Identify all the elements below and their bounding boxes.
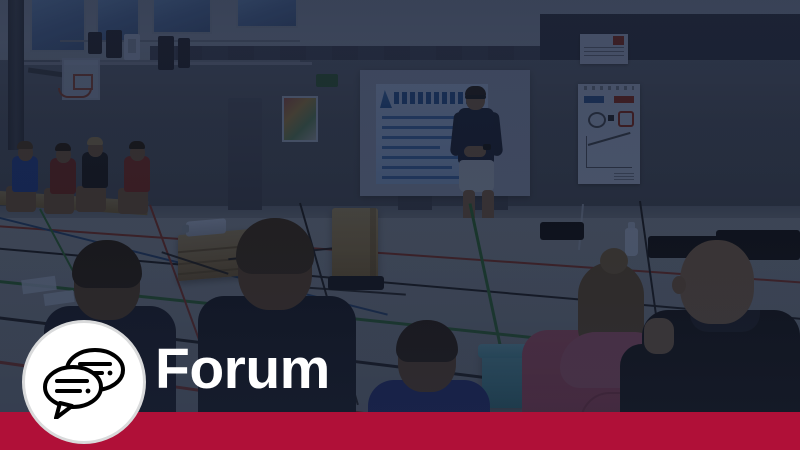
- wall-speaker: [178, 38, 190, 68]
- wall-poster-small: [580, 34, 628, 64]
- poster-square-mark: [608, 115, 614, 121]
- slide-body-line: [382, 126, 460, 129]
- vaulting-box: [332, 208, 378, 280]
- window: [236, 0, 298, 28]
- equipment-base: [328, 276, 384, 290]
- poster-axis: [586, 136, 632, 168]
- basketball-hoop-icon: [58, 88, 92, 98]
- slide-body-line: [382, 156, 468, 159]
- wall-speaker: [106, 30, 122, 58]
- wall-panel: [124, 34, 140, 60]
- slide-logo-icon: [380, 90, 392, 108]
- slide-body-line: [382, 146, 440, 149]
- forum-badge: [22, 320, 146, 444]
- poster-footer-text: [614, 173, 634, 180]
- presenter-shorts: [459, 160, 494, 192]
- speech-bubbles-icon: [40, 345, 128, 419]
- forum-banner: Forum: [0, 0, 800, 450]
- flipchart-clip: [584, 86, 634, 90]
- slide-body-line: [382, 166, 452, 169]
- hoop-post: [8, 0, 24, 150]
- poster-heading-red: [614, 96, 634, 103]
- poster-heading-blue: [584, 96, 604, 103]
- slide-tab: [406, 182, 440, 184]
- wall-speaker: [88, 32, 102, 54]
- exit-sign: [316, 74, 338, 87]
- wall-poster-colorful: [282, 96, 318, 142]
- sanitizer-bottle: [625, 228, 638, 256]
- page-title: Forum: [155, 341, 330, 398]
- wall-door: [228, 98, 262, 210]
- sunglasses-icon: [465, 95, 486, 99]
- wall-speaker: [158, 36, 174, 70]
- window: [152, 0, 212, 34]
- poster-stamp: [618, 111, 634, 127]
- equipment-case: [540, 222, 584, 240]
- poster-circle-diagram: [588, 112, 606, 128]
- flipchart-poster: [578, 84, 640, 184]
- wristwatch-icon: [483, 144, 491, 150]
